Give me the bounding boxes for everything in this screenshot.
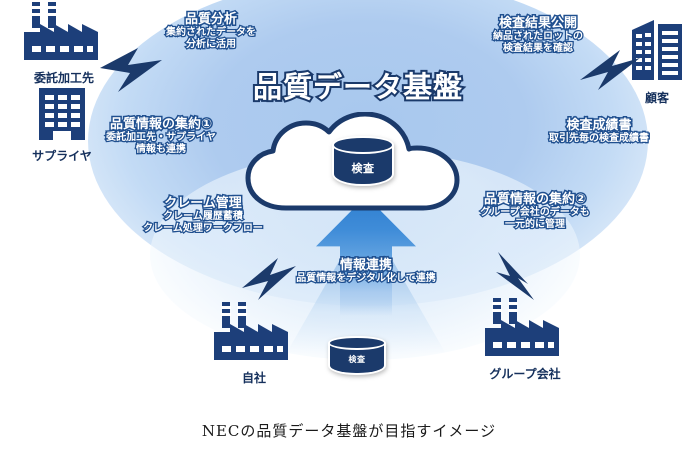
inspection-database-main: 検査 — [332, 136, 394, 190]
page-title: 品質データ基盤 — [243, 64, 473, 106]
lightning-bolt-icon — [580, 48, 642, 96]
callout-line: クレーム履歴蓄積 — [114, 211, 292, 223]
figure-caption: NECの品質データ基盤が目指すイメージ — [0, 420, 698, 441]
callout-quality-analysis: 品質分析 集約されたデータを 分析に活用 — [146, 12, 276, 51]
office-building-icon — [33, 127, 91, 146]
callout-claim-management: クレーム管理 クレーム履歴蓄積 クレーム処理ワークフロー — [114, 196, 292, 235]
lightning-bolt-icon — [242, 258, 298, 306]
callout-line: グループ会社のデータも — [454, 207, 616, 219]
node-label: グループ会社 — [470, 365, 580, 382]
callout-inspection-certificate: 検査成績書 取引先毎の検査成績書 — [518, 118, 680, 145]
lightning-bolt-icon — [494, 252, 550, 306]
lightning-bolt-icon — [98, 48, 164, 98]
callout-line: 品質情報をデジタル化して連携 — [276, 273, 456, 285]
factory-icon — [20, 49, 108, 68]
callout-quality-aggregation-2: 品質情報の集約② グループ会社のデータも 一元的に管理 — [454, 192, 616, 231]
callout-line: クレーム処理ワークフロー — [114, 223, 292, 235]
callout-heading: クレーム管理 — [114, 196, 292, 211]
db-label: 検査 — [332, 160, 394, 176]
node-label: サプライヤ — [10, 147, 114, 164]
node-group-company: グループ会社 — [470, 298, 580, 382]
inspection-database-bottom: 検査 — [328, 336, 386, 378]
callout-heading: 検査結果公開 — [464, 16, 612, 31]
factory-icon — [210, 349, 298, 368]
callout-line: 集約されたデータを — [146, 27, 276, 39]
callout-line: 分析に活用 — [146, 39, 276, 51]
callout-information-linkage: 情報連携 品質情報をデジタル化して連携 — [276, 258, 456, 285]
node-label: 自社 — [206, 369, 302, 386]
callout-heading: 品質情報の集約② — [454, 192, 616, 207]
callout-line: 納品されたロットの — [464, 31, 612, 43]
factory-icon — [481, 345, 569, 364]
node-own-company: 自社 — [206, 302, 302, 386]
callout-heading: 情報連携 — [276, 258, 456, 273]
callout-heading: 検査成績書 — [518, 118, 680, 133]
callout-line: 一元的に管理 — [454, 219, 616, 231]
diagram-canvas: 検査 検査 品質データ基盤 品質分析 集約されたデータを 分析に活用 品質情報の… — [0, 0, 698, 456]
db-label: 検査 — [328, 354, 386, 365]
callout-line: 取引先毎の検査成績書 — [518, 133, 680, 145]
callout-heading: 品質分析 — [146, 12, 276, 27]
